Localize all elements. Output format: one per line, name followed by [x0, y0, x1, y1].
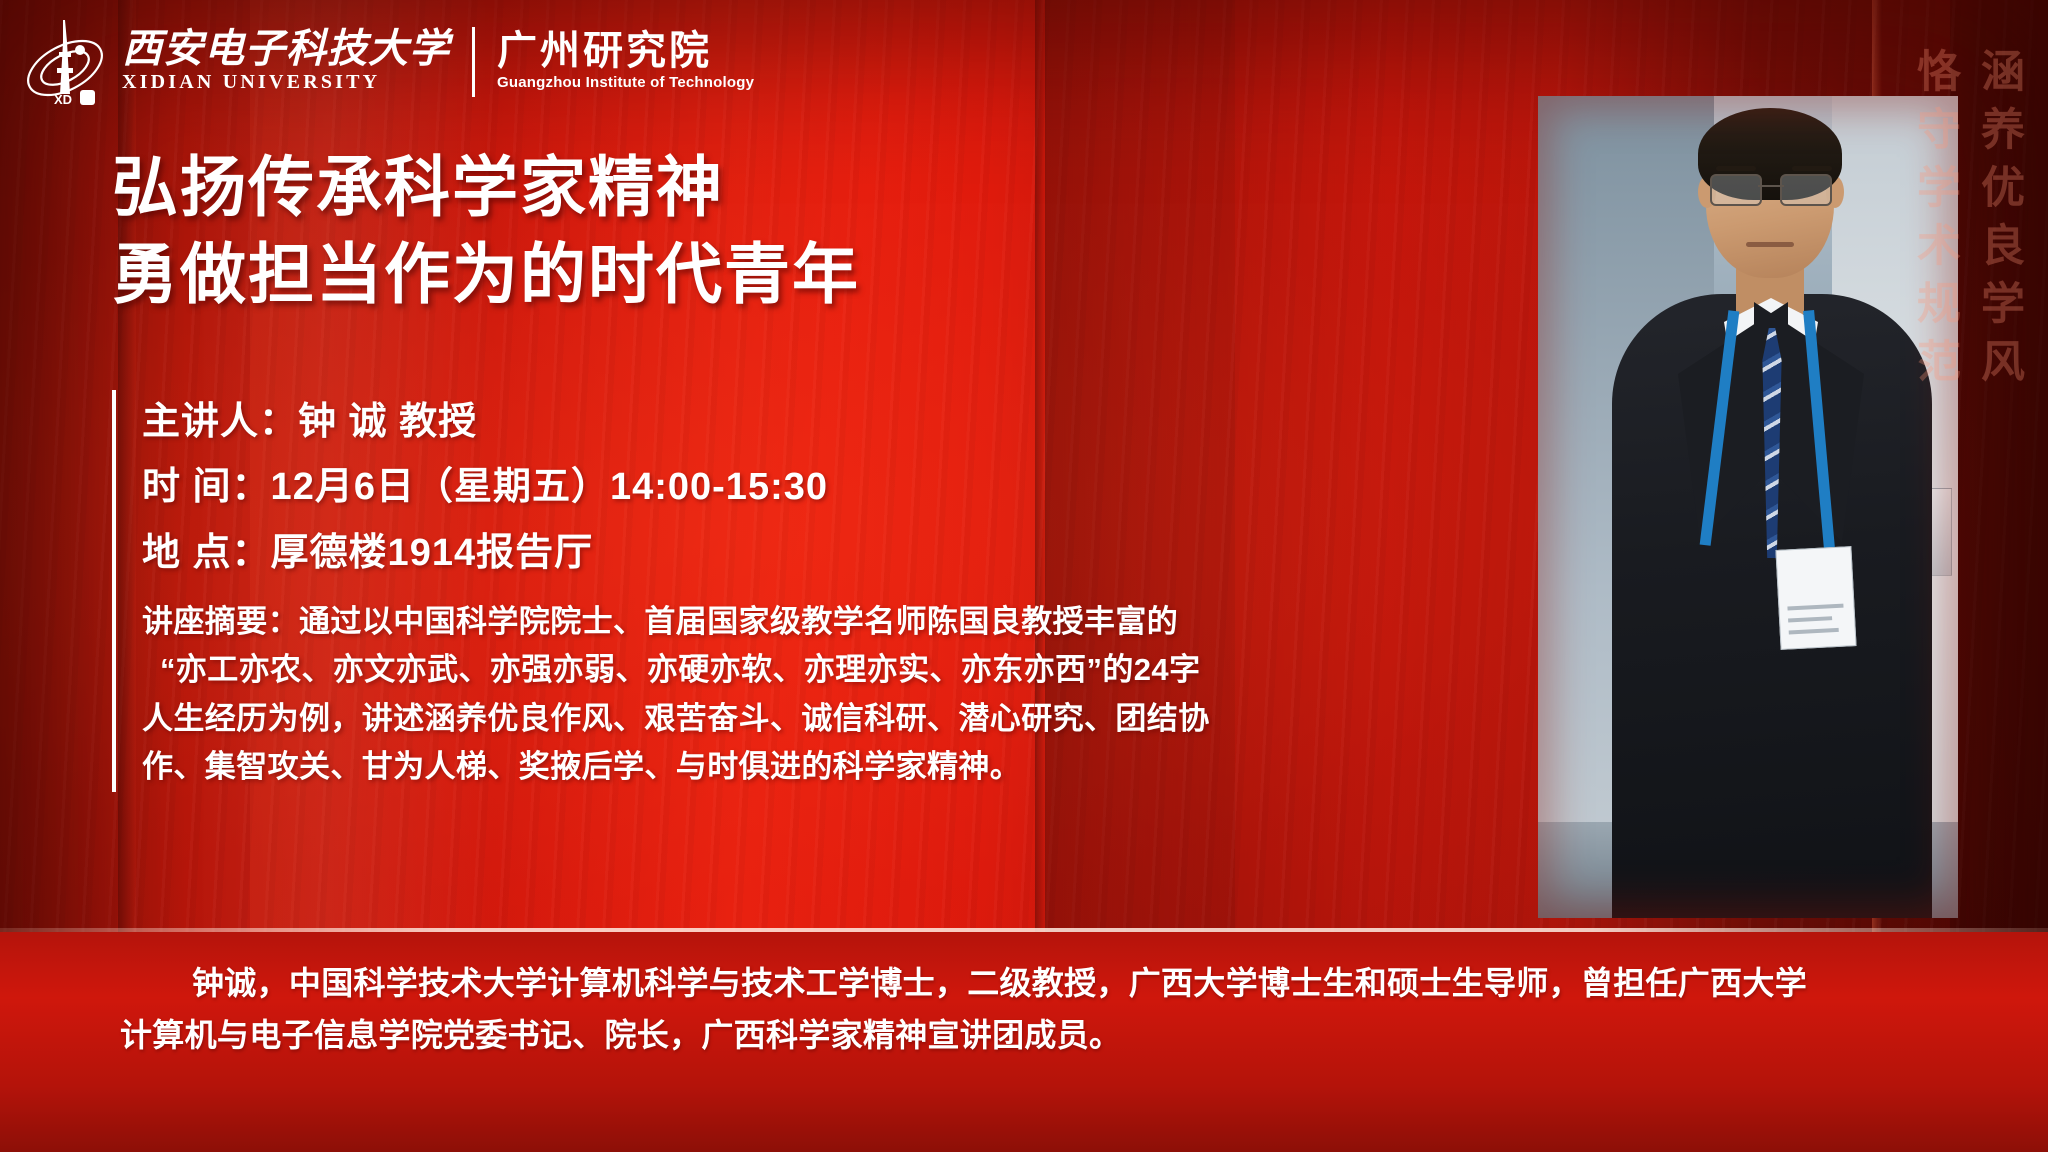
- speaker-photo: [1538, 96, 1958, 918]
- institution-logo: XD 西安电子科技大学 XIDIAN UNIVERSITY 广州研究院 Guan…: [18, 14, 754, 110]
- abstract-line: 人生经历为例，讲述涵养优良作风、艰苦奋斗、诚信科研、潜心研究、团结协: [142, 695, 1272, 743]
- xidian-emblem-icon: XD: [18, 16, 114, 108]
- institute-name-cn: 广州研究院: [497, 30, 754, 72]
- university-name-block: 西安电子科技大学 XIDIAN UNIVERSITY: [122, 37, 450, 87]
- vertical-motto-watermark: 恪守学术规范 涵养优良学风: [1912, 48, 2020, 396]
- lecture-poster: XD 西安电子科技大学 XIDIAN UNIVERSITY 广州研究院 Guan…: [0, 0, 2048, 1152]
- bio-line-2: 计算机与电子信息学院党委书记、院长，广西科学家精神宣讲团成员。: [120, 1010, 1950, 1062]
- bio-line-1: 钟诚，中国科学技术大学计算机科学与技术工学博士，二级教授，广西大学博士生和硕士生…: [120, 958, 1950, 1010]
- location-line: 地 点：厚德楼1914报告厅: [142, 521, 1272, 586]
- abstract-line: “亦工亦农、亦文亦武、亦强亦弱、亦硬亦软、亦理亦实、亦东亦西”的24字: [142, 646, 1272, 694]
- svg-text:XD: XD: [54, 92, 72, 107]
- university-name-en: XIDIAN UNIVERSITY: [122, 69, 450, 95]
- title-line-1: 弘扬传承科学家精神: [112, 144, 1212, 231]
- time-line: 时 间：12月6日（星期五）14:00-15:30: [142, 455, 1272, 520]
- photo-edge-blend: [1538, 96, 1958, 918]
- abstract-line: 作、集智攻关、甘为人梯、奖掖后学、与时俱进的科学家精神。: [142, 743, 1272, 791]
- logo-divider: [472, 27, 475, 97]
- motto-column-right: 涵养优良学风: [1976, 48, 2020, 396]
- abstract-line: 讲座摘要：通过以中国科学院院士、首届国家级教学名师陈国良教授丰富的: [142, 598, 1272, 646]
- bio-text-block: 钟诚，中国科学技术大学计算机科学与技术工学博士，二级教授，广西大学博士生和硕士生…: [120, 958, 1950, 1062]
- university-name-cn: 西安电子科技大学: [122, 29, 450, 69]
- institute-name-block: 广州研究院 Guangzhou Institute of Technology: [497, 30, 754, 95]
- institute-name-en: Guangzhou Institute of Technology: [497, 72, 754, 95]
- page-title: 弘扬传承科学家精神 勇做担当作为的时代青年: [112, 144, 1212, 318]
- speaker-line: 主讲人：钟 诚 教授: [142, 390, 1272, 455]
- lecture-abstract: 讲座摘要：通过以中国科学院院士、首届国家级教学名师陈国良教授丰富的 “亦工亦农、…: [142, 598, 1272, 791]
- title-line-2: 勇做担当作为的时代青年: [112, 231, 1212, 318]
- lecture-details: 主讲人：钟 诚 教授 时 间：12月6日（星期五）14:00-15:30 地 点…: [112, 390, 1272, 792]
- motto-column-left: 恪守学术规范: [1912, 48, 1956, 396]
- speaker-bio-strip: 钟诚，中国科学技术大学计算机科学与技术工学博士，二级教授，广西大学博士生和硕士生…: [0, 932, 2048, 1152]
